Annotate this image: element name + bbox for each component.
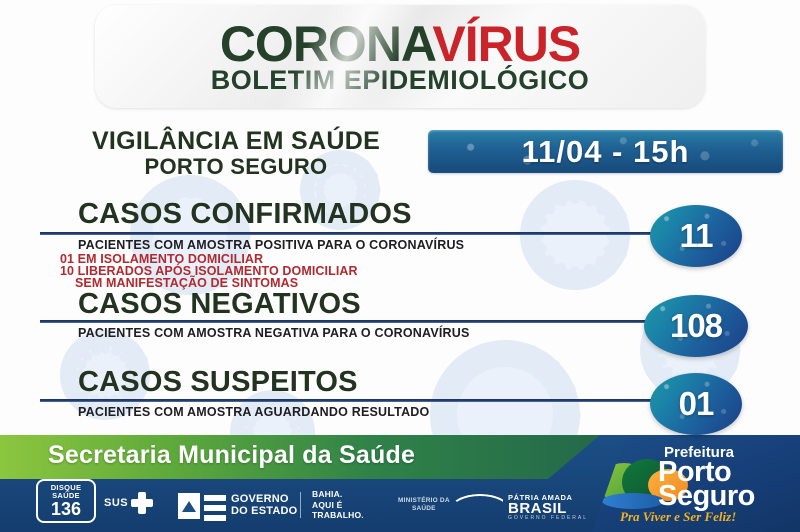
bahia-line-2: AQUI É [312,500,364,510]
count-badge-suspeitos: 01 [650,373,742,435]
brasil-line-3: GOVERNO FEDERAL [508,516,588,521]
disque-number: 136 [51,500,81,518]
count-value: 11 [680,217,713,255]
patria-amada-brasil-logo: PÁTRIA AMADA BRASIL GOVERNO FEDERAL [455,494,588,522]
footer: Secretaria Municipal da Saúde DISQUE SAÚ… [0,435,800,532]
virus-shape-icon [520,180,630,290]
count-value: 01 [679,385,714,423]
ministerio-line-2: SAÚDE [398,505,450,512]
section-divider [40,399,670,402]
brasil-swoosh-icon [455,494,503,520]
section-heading: CASOS SUSPEITOS [78,368,358,397]
page-subtitle: BOLETIM EPIDEMIOLÓGICO [95,67,705,94]
disque-line-2: SAÚDE [52,492,80,500]
title-virus: VÍRUS [432,16,580,72]
page-title: CORONAVÍRUS [95,19,705,69]
section-heading: CASOS NEGATIVOS [78,290,361,319]
footer-divider [300,492,301,518]
section-description: PACIENTES COM AMOSTRA AGUARDANDO RESULTA… [78,405,429,419]
section-description: PACIENTES COM AMOSTRA NEGATIVA PARA O CO… [78,326,470,340]
medical-cross-icon [131,492,153,514]
porto-seguro-tagline: Pra Viver e Ser Feliz! [620,509,736,525]
sus-logo: SUS [104,492,153,514]
bahia-line-1: BAHIA. [312,489,364,499]
date-banner: 11/04 - 15h [428,130,783,173]
vigilance-block: VIGILÂNCIA EM SAÚDE PORTO SEGURO [56,128,416,179]
section-heading: CASOS CONFIRMADOS [78,200,412,229]
title-corona: CORONA [220,16,433,72]
section-divider [40,232,670,235]
date-banner-text: 11/04 - 15h [522,134,690,170]
vigilance-line-1: VIGILÂNCIA EM SAÚDE [56,128,416,155]
bahia-line-3: TRABALHO. [312,510,364,520]
disque-saude-logo: DISQUE SAÚDE 136 [36,479,96,523]
logo-swoosh-blue-icon [602,493,664,509]
section-description: PACIENTES COM AMOSTRA POSITIVA PARA O CO… [78,238,464,252]
governo-estado-logo: GOVERNO DO ESTADO [178,493,297,519]
footer-title: Secretaria Municipal da Saúde [48,441,415,470]
section-divider [40,320,670,323]
count-badge-confirmados: 11 [650,205,742,267]
brasil-line-2: BRASIL [508,501,588,516]
sus-label: SUS [104,497,128,509]
porto-seguro-logo: Prefeitura Porto Seguro Pra Viver e Ser … [596,441,792,529]
count-value: 108 [670,307,722,345]
coronavirus-bulletin-infographic: CORONAVÍRUS BOLETIM EPIDEMIOLÓGICO VIGIL… [0,0,800,532]
vigilance-line-2: PORTO SEGURO [56,155,416,179]
ministerio-line-1: MINISTÉRIO DA [398,497,450,504]
bahia-slogan: BAHIA. AQUI É TRABALHO. [312,489,364,520]
governo-mark-icon [178,493,226,519]
porto-seguro-name-2: Seguro [658,482,755,511]
porto-seguro-logo-panel: Prefeitura Porto Seguro Pra Viver e Ser … [592,435,800,532]
ministerio-saude-logo: MINISTÉRIO DA SAÚDE [398,497,450,512]
header-panel: CORONAVÍRUS BOLETIM EPIDEMIOLÓGICO [95,5,705,108]
count-badge-negativos: 108 [644,295,748,357]
governo-line-2: DO ESTADO [231,506,297,518]
